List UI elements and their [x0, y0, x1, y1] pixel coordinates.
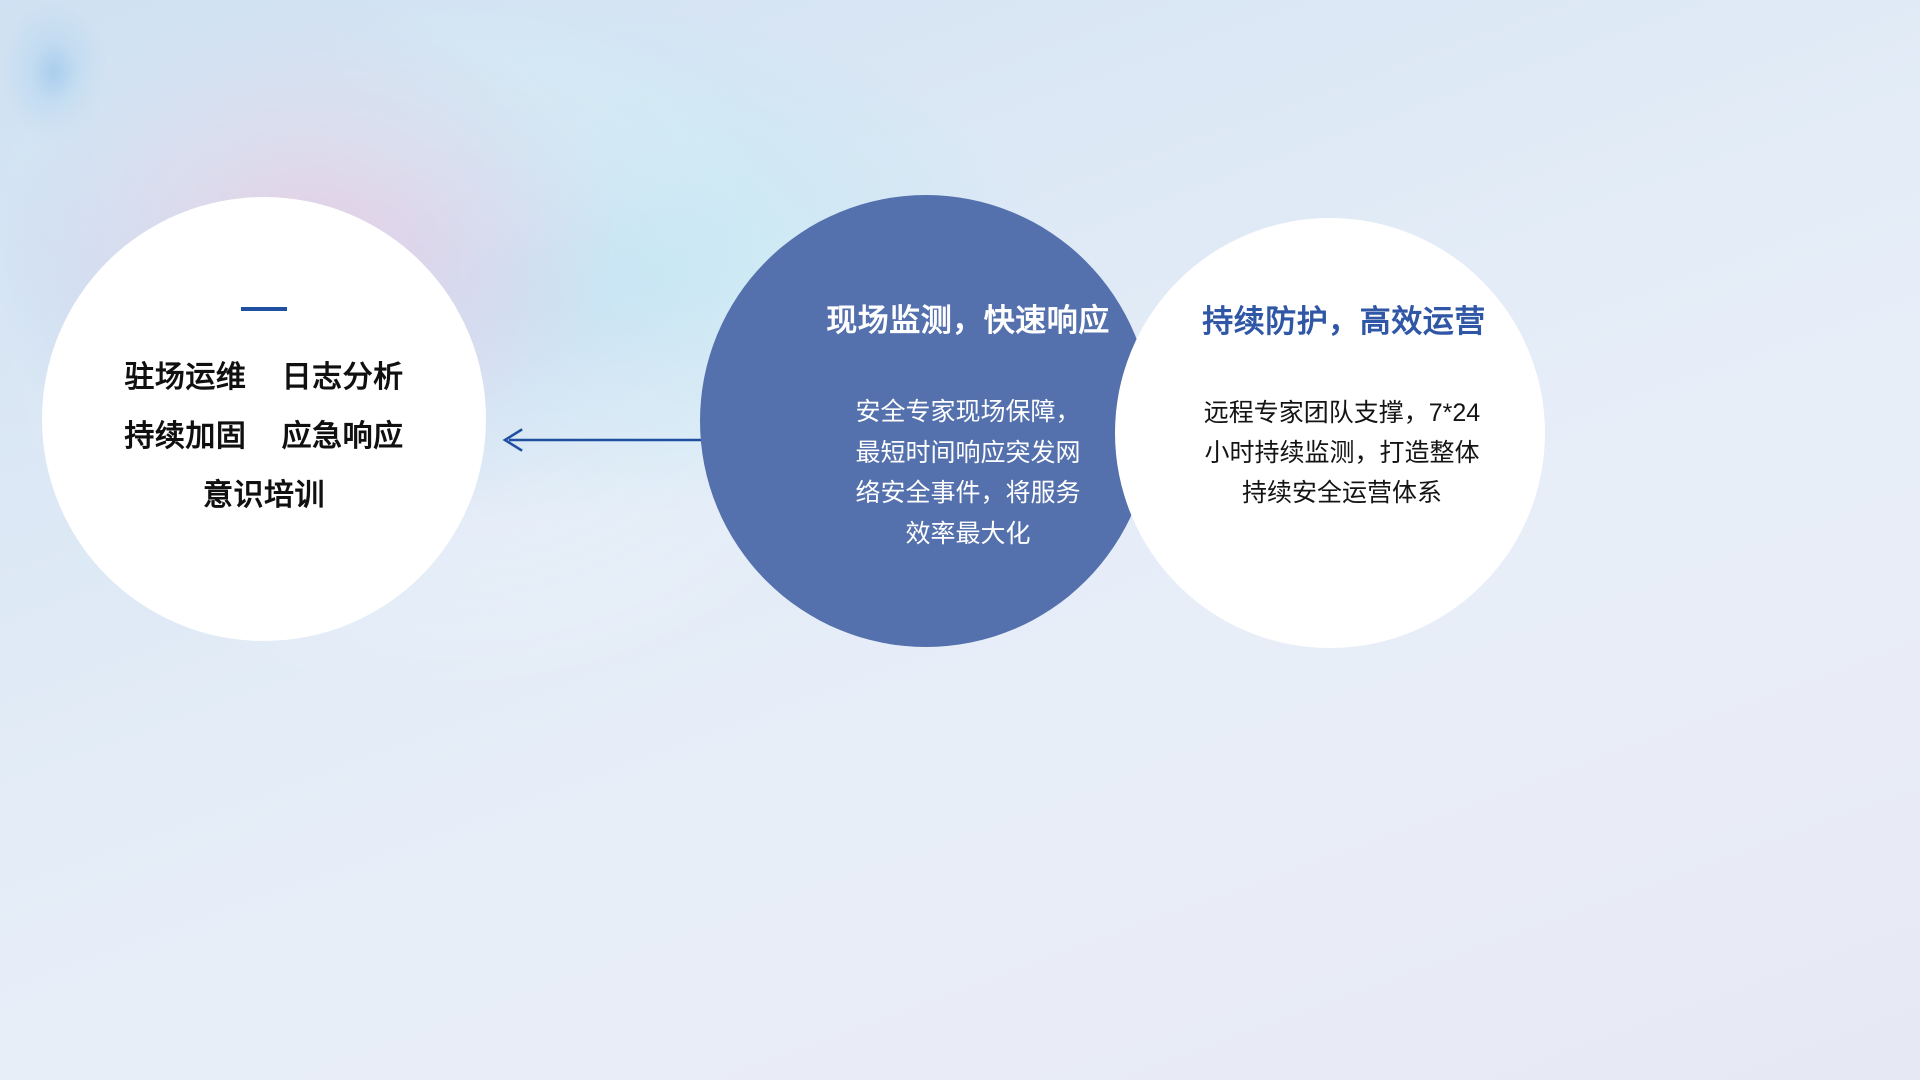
middle-circle-content: 现场监测，快速响应 安全专家现场保障， 最短时间响应突发网 络安全事件，将服务 …	[700, 195, 1152, 647]
left-circle-card[interactable]: 驻场运维 日志分析 持续加固 应急响应 意识培训	[42, 197, 486, 641]
left-circle-content: 驻场运维 日志分析 持续加固 应急响应 意识培训	[42, 197, 486, 641]
left-circle-line-1: 驻场运维 日志分析	[124, 363, 403, 393]
right-circle-content: 持续防护，高效运营 远程专家团队支撑，7*24 小时持续监测，打造整体 持续安全…	[1115, 218, 1545, 648]
left-divider-rule	[241, 307, 287, 311]
right-body-line-3: 持续安全运营体系	[1154, 473, 1530, 513]
left-circle-line-3: 意识培训	[203, 481, 325, 511]
middle-circle-title: 现场监测，快速响应	[826, 295, 1110, 340]
right-body-line-1: 远程专家团队支撑，7*24	[1154, 393, 1530, 433]
middle-body-line-2: 最短时间响应突发网	[818, 433, 1118, 474]
left-circle-line-2: 持续加固 应急响应	[124, 422, 403, 452]
middle-body-line-3: 络安全事件，将服务	[818, 473, 1118, 514]
right-circle-title: 持续防护，高效运营	[1202, 296, 1486, 341]
right-body-line-2: 小时持续监测，打造整体	[1154, 433, 1530, 473]
right-circle-card[interactable]: 持续防护，高效运营 远程专家团队支撑，7*24 小时持续监测，打造整体 持续安全…	[1115, 218, 1545, 648]
middle-circle-body: 安全专家现场保障， 最短时间响应突发网 络安全事件，将服务 效率最大化	[818, 392, 1118, 554]
middle-body-line-4: 效率最大化	[818, 514, 1118, 555]
right-circle-body: 远程专家团队支撑，7*24 小时持续监测，打造整体 持续安全运营体系	[1154, 393, 1530, 513]
slide-canvas: 驻场运维 日志分析 持续加固 应急响应 意识培训 现场监测，快速响应 安全专家现…	[0, 0, 1920, 1080]
middle-body-line-1: 安全专家现场保障，	[818, 392, 1118, 433]
middle-circle-card[interactable]: 现场监测，快速响应 安全专家现场保障， 最短时间响应突发网 络安全事件，将服务 …	[700, 195, 1152, 647]
leftward-flow-arrow	[495, 418, 711, 462]
